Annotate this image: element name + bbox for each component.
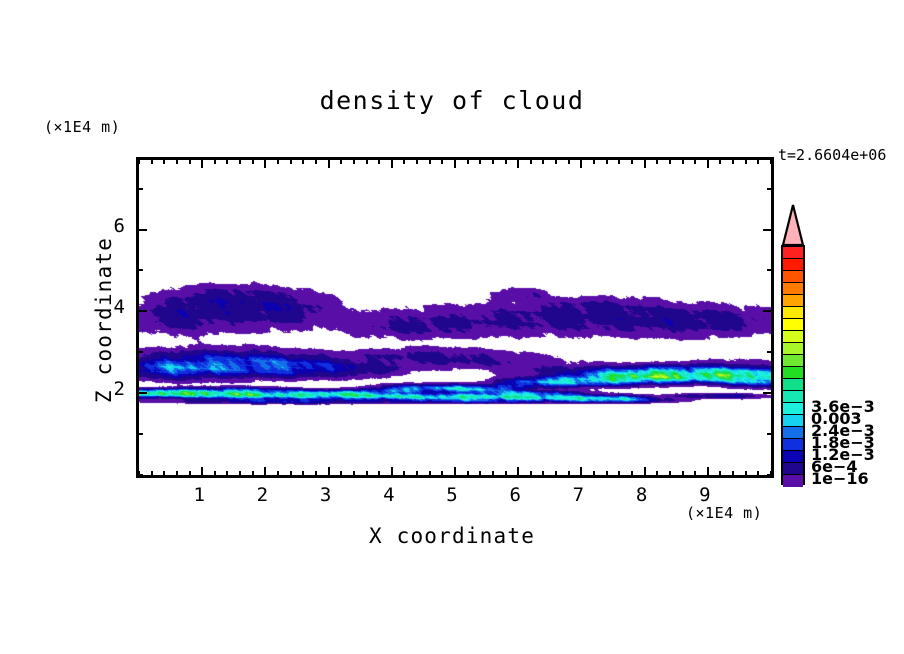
x-tick-label: 1 (179, 484, 219, 506)
x-tick-minor (656, 157, 658, 164)
x-tick-minor (757, 471, 759, 478)
colorbar-band (783, 295, 803, 307)
x-tick-major (328, 157, 330, 168)
x-tick-minor (302, 157, 304, 164)
y-tick-minor (136, 351, 143, 353)
x-tick-minor (340, 471, 342, 478)
x-tick-minor (694, 471, 696, 478)
x-tick-minor (252, 157, 254, 164)
x-tick-minor (479, 157, 481, 164)
contour-plot-image (139, 160, 771, 475)
x-tick-minor (492, 157, 494, 164)
x-tick-minor (719, 471, 721, 478)
x-tick-minor (618, 471, 620, 478)
x-tick-minor (340, 157, 342, 164)
x-tick-minor (315, 157, 317, 164)
x-tick-minor (745, 157, 747, 164)
x-tick-minor (138, 157, 140, 164)
x-tick-major (454, 467, 456, 478)
x-tick-minor (416, 471, 418, 478)
x-tick-minor (593, 471, 595, 478)
x-tick-minor (441, 471, 443, 478)
x-tick-minor (151, 471, 153, 478)
x-tick-label: 4 (369, 484, 409, 506)
x-tick-label: 5 (432, 484, 472, 506)
x-tick-minor (656, 471, 658, 478)
x-tick-minor (378, 471, 380, 478)
x-tick-minor (606, 157, 608, 164)
y-tick-minor (767, 433, 774, 435)
x-tick-major (201, 157, 203, 168)
colorbar-band (783, 391, 803, 403)
x-tick-minor (618, 157, 620, 164)
y-tick-major (136, 392, 147, 394)
plot-frame (136, 157, 774, 478)
x-tick-minor (732, 157, 734, 164)
x-tick-major (328, 467, 330, 478)
colorbar-band (783, 307, 803, 319)
x-tick-major (707, 157, 709, 168)
x-tick-minor (290, 471, 292, 478)
x-tick-minor (593, 157, 595, 164)
x-tick-minor (378, 157, 380, 164)
colorbar-band (783, 355, 803, 367)
x-tick-minor (757, 157, 759, 164)
y-tick-minor (767, 351, 774, 353)
colorbar-band (783, 475, 803, 487)
colorbar-band (783, 427, 803, 439)
x-axis-units-label: (×1E4 m) (686, 504, 762, 522)
x-tick-minor (239, 471, 241, 478)
x-tick-major (644, 467, 646, 478)
timestamp-annotation: t=2.6604e+06 (778, 146, 886, 164)
colorbar-band (783, 343, 803, 355)
x-tick-minor (568, 157, 570, 164)
x-tick-minor (353, 471, 355, 478)
x-tick-minor (176, 157, 178, 164)
x-tick-minor (530, 157, 532, 164)
colorbar-band (783, 319, 803, 331)
y-tick-label: 4 (85, 296, 125, 318)
x-tick-minor (505, 157, 507, 164)
y-axis-units-label: (×1E4 m) (44, 118, 120, 136)
y-tick-minor (136, 433, 143, 435)
x-tick-minor (770, 157, 772, 164)
x-tick-minor (366, 471, 368, 478)
y-tick-label: 2 (85, 378, 125, 400)
x-tick-major (517, 467, 519, 478)
x-tick-minor (682, 157, 684, 164)
x-tick-minor (403, 471, 405, 478)
colorbar-band (783, 451, 803, 463)
x-tick-minor (176, 471, 178, 478)
x-tick-minor (542, 471, 544, 478)
y-tick-minor (767, 474, 774, 476)
y-tick-major (763, 310, 774, 312)
x-tick-minor (467, 157, 469, 164)
x-tick-minor (555, 157, 557, 164)
x-tick-minor (315, 471, 317, 478)
x-tick-minor (277, 157, 279, 164)
colorbar-band (783, 439, 803, 451)
x-tick-minor (151, 157, 153, 164)
x-tick-minor (252, 471, 254, 478)
x-tick-major (201, 467, 203, 478)
x-tick-minor (719, 157, 721, 164)
x-tick-minor (353, 157, 355, 164)
colorbar-arrow-icon (781, 204, 805, 246)
x-tick-minor (492, 471, 494, 478)
y-tick-label: 6 (85, 215, 125, 237)
y-tick-minor (136, 188, 143, 190)
x-tick-minor (226, 157, 228, 164)
x-tick-minor (189, 471, 191, 478)
x-axis-title: X coordinate (136, 524, 768, 548)
x-tick-minor (226, 471, 228, 478)
x-tick-minor (542, 157, 544, 164)
x-tick-major (517, 157, 519, 168)
x-tick-major (644, 157, 646, 168)
x-tick-minor (189, 157, 191, 164)
colorbar-band (783, 283, 803, 295)
x-tick-minor (214, 471, 216, 478)
y-tick-major (763, 392, 774, 394)
x-tick-label: 2 (242, 484, 282, 506)
colorbar-band (783, 403, 803, 415)
page-title: density of cloud (0, 86, 904, 115)
colorbar-tick-label: 1e−16 (811, 469, 869, 488)
x-tick-minor (214, 157, 216, 164)
figure-canvas: density of cloud (×1E4 m) t=2.6604e+06 Z… (0, 0, 904, 654)
x-tick-major (707, 467, 709, 478)
x-tick-major (580, 157, 582, 168)
colorbar-band (783, 463, 803, 475)
colorbar-band (783, 379, 803, 391)
x-tick-minor (239, 157, 241, 164)
x-tick-label: 3 (306, 484, 346, 506)
x-tick-major (264, 467, 266, 478)
x-tick-major (264, 157, 266, 168)
x-tick-minor (745, 471, 747, 478)
x-tick-minor (669, 471, 671, 478)
x-tick-minor (682, 471, 684, 478)
x-tick-label: 8 (622, 484, 662, 506)
x-tick-major (454, 157, 456, 168)
x-tick-minor (631, 471, 633, 478)
x-tick-minor (530, 471, 532, 478)
colorbar-band (783, 331, 803, 343)
x-tick-minor (163, 471, 165, 478)
x-tick-minor (429, 157, 431, 164)
x-tick-minor (568, 471, 570, 478)
x-tick-minor (505, 471, 507, 478)
x-tick-major (391, 157, 393, 168)
x-tick-minor (441, 157, 443, 164)
x-tick-minor (732, 471, 734, 478)
x-tick-label: 9 (685, 484, 725, 506)
colorbar-band (783, 415, 803, 427)
x-tick-minor (606, 471, 608, 478)
y-tick-major (136, 229, 147, 231)
x-tick-minor (403, 157, 405, 164)
y-tick-minor (767, 188, 774, 190)
colorbar-band (783, 247, 803, 259)
x-tick-major (580, 467, 582, 478)
x-tick-minor (479, 471, 481, 478)
x-tick-minor (669, 157, 671, 164)
y-tick-minor (767, 269, 774, 271)
x-tick-major (391, 467, 393, 478)
x-tick-minor (429, 471, 431, 478)
x-tick-minor (467, 471, 469, 478)
x-tick-minor (416, 157, 418, 164)
x-tick-minor (694, 157, 696, 164)
x-tick-minor (290, 157, 292, 164)
y-tick-minor (136, 474, 143, 476)
plot-area (139, 160, 771, 475)
x-tick-minor (277, 471, 279, 478)
x-tick-minor (366, 157, 368, 164)
y-tick-major (136, 310, 147, 312)
colorbar-band (783, 259, 803, 271)
colorbar-bands (781, 245, 805, 485)
y-tick-major (763, 229, 774, 231)
y-tick-minor (136, 269, 143, 271)
x-tick-minor (163, 157, 165, 164)
x-tick-minor (302, 471, 304, 478)
x-tick-label: 7 (558, 484, 598, 506)
colorbar-band (783, 271, 803, 283)
colorbar-band (783, 367, 803, 379)
x-tick-label: 6 (495, 484, 535, 506)
x-tick-minor (555, 471, 557, 478)
x-tick-minor (631, 157, 633, 164)
